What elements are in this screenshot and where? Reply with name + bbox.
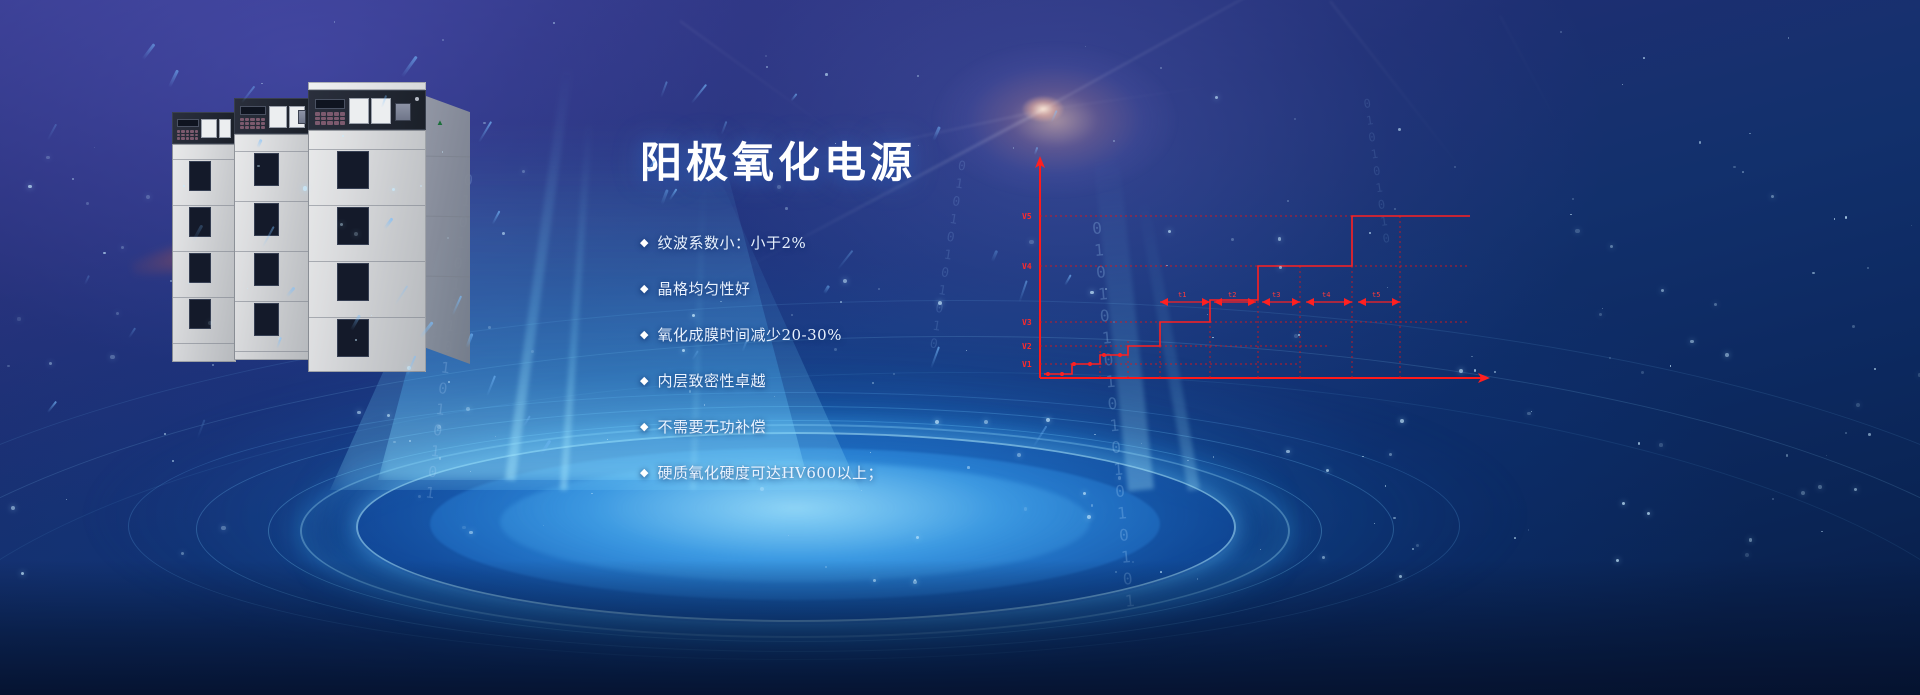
particle-dot (1393, 517, 1396, 520)
particle-dot (1801, 491, 1805, 495)
particle-dot (1362, 456, 1363, 457)
particle-streak (47, 124, 57, 141)
cabinet-vent (189, 299, 211, 329)
waveform-point (1118, 353, 1122, 357)
particle-dot (1690, 340, 1694, 344)
cabinet-display-screen (177, 119, 199, 127)
particle-dot (357, 411, 361, 415)
particle-dot (1868, 433, 1871, 436)
cabinet-body (308, 130, 426, 372)
particle-dot (1622, 84, 1623, 85)
particle-dot (1867, 267, 1869, 269)
particle-dot (17, 317, 20, 320)
particle-dot (1385, 485, 1386, 486)
light-beam (505, 63, 573, 480)
particle-dot (387, 414, 390, 417)
cabinet-body (234, 134, 310, 360)
list-item-label: 晶格均匀性好 (657, 282, 750, 297)
particle-dot (1854, 488, 1857, 491)
cabinet-indicator-light (415, 97, 419, 101)
particle-dot (1294, 118, 1297, 121)
particle-dot (1749, 538, 1753, 542)
particle-dot (1570, 214, 1571, 215)
particle-dot (110, 355, 114, 359)
waveform-point (1102, 353, 1106, 357)
particle-dot (1826, 455, 1827, 456)
particle-dot (502, 232, 505, 235)
particle-dot (21, 572, 24, 575)
particle-dot (46, 156, 49, 159)
particle-dot (1599, 313, 1602, 316)
dimension-group-t5: t5 (1358, 291, 1400, 306)
particle-dot (1260, 549, 1261, 550)
particle-dot (1531, 411, 1533, 413)
particle-dot (1602, 308, 1603, 309)
waveform-point (1060, 372, 1064, 376)
cabinet-seam (235, 151, 309, 152)
dimension-label-t5: t5 (1372, 291, 1380, 299)
cabinet-seam (173, 343, 235, 344)
diamond-bullet-icon: ◆ (640, 466, 648, 481)
dimension-group-t4: t4 (1306, 291, 1352, 306)
particle-dot (1141, 443, 1142, 444)
diamond-bullet-icon: ◆ (640, 328, 648, 343)
particle-dot (1661, 289, 1665, 293)
diamond-bullet-icon: ◆ (640, 282, 648, 297)
particle-dot (66, 499, 67, 500)
particle-dot (1638, 442, 1640, 444)
level-label-v5: V5 (1022, 212, 1032, 221)
particle-streak (486, 375, 496, 396)
particle-dot (1742, 171, 1744, 173)
waveform-point (1072, 362, 1076, 366)
particle-dot (1659, 443, 1663, 447)
particle-dot (1197, 578, 1199, 580)
cabinet-middle (234, 98, 310, 360)
cabinet-control-head (308, 90, 426, 130)
diamond-bullet-icon: ◆ (640, 236, 648, 251)
particle-dot (1699, 141, 1702, 144)
particle-dot (1643, 57, 1645, 59)
cabinet-seam (309, 317, 425, 318)
particle-dot (495, 436, 496, 437)
cabinet-keypad (315, 112, 345, 125)
particle-dot (1528, 529, 1529, 530)
particle-dot (1572, 198, 1574, 200)
cabinet-front (308, 82, 426, 372)
banner-stage: 0101010101010101 010101010101010101 0101… (0, 0, 1920, 695)
particle-dot (1641, 371, 1644, 374)
particle-dot (1771, 195, 1774, 198)
particle-dot (766, 66, 768, 68)
particle-dot (1187, 460, 1189, 462)
cabinet-seam (173, 205, 235, 206)
particle-dot (334, 21, 336, 23)
particle-dot (1821, 531, 1823, 533)
particle-streak (721, 121, 728, 135)
cabinet-seam (235, 201, 309, 202)
cabinet-vent (189, 207, 211, 237)
dimension-label-t4: t4 (1322, 291, 1330, 299)
particle-dot (442, 39, 444, 41)
particle-streak (660, 82, 668, 98)
cabinet-seam (235, 251, 309, 252)
particle-dot (1610, 245, 1613, 248)
particle-streak (197, 419, 206, 438)
particle-dot (1911, 225, 1912, 226)
cabinet-vent (254, 153, 279, 186)
cabinet-seam (426, 156, 470, 158)
stepped-waveform (1044, 216, 1470, 374)
particle-dot (466, 407, 470, 411)
particle-dot (103, 252, 105, 254)
particle-dot (437, 425, 441, 429)
cabinet-top-cap (308, 82, 426, 90)
particle-streak (1050, 110, 1058, 123)
equipment-group: ▲ (168, 82, 488, 372)
particle-dot (1852, 325, 1855, 328)
cabinet-seam (426, 276, 470, 278)
particle-dot (393, 441, 396, 444)
particle-dot (1326, 469, 1329, 472)
particle-dot (1749, 133, 1751, 135)
particle-dot (1845, 216, 1848, 219)
particle-streak (141, 43, 155, 60)
particle-dot (1818, 485, 1822, 489)
cabinet-placard (269, 106, 287, 128)
particle-streak (491, 211, 500, 225)
cabinet-seam (309, 149, 425, 150)
particle-dot (1733, 166, 1735, 168)
particle-dot (1085, 46, 1086, 47)
particle-dot (1399, 575, 1402, 578)
list-item-label: 纹波系数小：小于2% (657, 236, 806, 251)
cabinet-vent (337, 207, 369, 245)
cabinet-seam (309, 205, 425, 206)
particle-dot (1874, 368, 1877, 371)
dimension-group-t2: t2 (1214, 291, 1256, 306)
particle-streak (128, 328, 136, 339)
particle-dot (825, 73, 828, 76)
particle-dot (1400, 419, 1404, 423)
particle-dot (172, 460, 174, 462)
particle-dot (553, 22, 555, 24)
particle-streak (401, 55, 417, 76)
particle-streak (791, 93, 798, 101)
particle-dot (488, 326, 491, 329)
particle-dot (1575, 229, 1579, 233)
dimension-label-t1: t1 (1178, 291, 1186, 299)
particle-dot (1560, 31, 1562, 33)
particle-dot (1622, 502, 1625, 505)
cabinet-keypad (240, 118, 265, 129)
particle-dot (181, 552, 184, 555)
cabinet-placard (219, 119, 231, 138)
list-item-label: 氧化成膜时间减少20-30% (657, 328, 842, 343)
cabinet-side-panel: ▲ (426, 96, 470, 364)
particle-dot (72, 178, 75, 181)
particle-dot (917, 75, 919, 77)
particle-dot (164, 433, 166, 435)
light-beam (560, 121, 593, 491)
cabinet-vent (189, 161, 211, 191)
particle-dot (94, 147, 96, 149)
dimension-group-t1: t1 (1160, 291, 1210, 306)
particle-dot (1514, 537, 1516, 539)
particle-dot (1788, 37, 1789, 38)
particle-dot (1215, 96, 1218, 99)
waveform-point (1046, 372, 1050, 376)
particle-dot (1786, 454, 1788, 456)
particle-dot (1616, 559, 1619, 562)
cabinet-placard (201, 119, 217, 138)
list-item: ◆ 不需要无功补偿 (640, 420, 1100, 435)
particle-dot (1412, 548, 1414, 550)
cabinet-vent (254, 303, 279, 336)
particle-dot (1160, 67, 1162, 69)
cabinet-keypad (177, 130, 198, 140)
particle-dot (1322, 556, 1325, 559)
particle-dot (409, 440, 411, 442)
particle-dot (448, 381, 450, 383)
dimension-label-t3: t3 (1272, 291, 1280, 299)
particle-dot (765, 55, 767, 57)
cabinet-seam (235, 301, 309, 302)
cabinet-seam (173, 297, 235, 298)
particle-streak (523, 415, 530, 426)
particle-dot (607, 439, 608, 440)
voltage-waveform-diagram: V5 V4 V3 V2 V1 (1000, 150, 1520, 400)
particle-dot (1714, 303, 1717, 306)
particle-dot (1389, 453, 1392, 456)
particle-dot (1834, 218, 1836, 220)
cabinet-placard (371, 98, 391, 124)
particle-dot (116, 312, 120, 316)
particle-dot (1527, 412, 1531, 416)
cabinet-seam (309, 261, 425, 262)
lens-flare-core (1022, 96, 1064, 122)
level-label-v1: V1 (1022, 360, 1032, 369)
list-item-label: 不需要无功补偿 (657, 420, 766, 435)
particle-dot (1670, 365, 1672, 367)
cabinet-display-screen (315, 99, 345, 109)
particle-dot (221, 526, 225, 530)
list-item-label: 内层致密性卓越 (657, 374, 766, 389)
cabinet-vent (337, 263, 369, 301)
particle-dot (1772, 498, 1774, 500)
particle-streak (84, 275, 90, 284)
particle-dot (49, 362, 52, 365)
cabinet-vent (254, 253, 279, 286)
cabinet-vent (337, 151, 369, 189)
waveform-svg: V5 V4 V3 V2 V1 (1000, 150, 1520, 400)
cabinet-logo-icon: ▲ (436, 118, 445, 127)
cabinet-seam (173, 251, 235, 252)
particle-dot (439, 457, 442, 460)
cabinet-vent (254, 203, 279, 236)
cabinet-rear (172, 112, 236, 362)
diamond-bullet-icon: ◆ (640, 374, 648, 389)
particle-dot (1845, 432, 1847, 434)
dimension-group-t3: t3 (1262, 291, 1300, 306)
particle-dot (531, 350, 534, 353)
cabinet-vent (189, 253, 211, 283)
particle-dot (121, 246, 124, 249)
list-item-label: 硬质氧化硬度可达HV600以上； (657, 466, 883, 481)
particle-dot (1113, 140, 1115, 142)
particle-dot (1609, 357, 1611, 359)
light-ray (1040, 0, 1531, 112)
particle-dot (1647, 512, 1651, 516)
particle-dot (1745, 553, 1749, 557)
level-label-v4: V4 (1022, 262, 1032, 271)
cabinet-vent (337, 319, 369, 357)
cabinet-seam (426, 216, 470, 218)
particle-dot (86, 202, 89, 205)
particle-dot (7, 365, 10, 368)
dimension-label-t2: t2 (1228, 291, 1236, 299)
cabinet-seam (173, 159, 235, 160)
level-label-v2: V2 (1022, 342, 1032, 351)
cabinet-display-screen (240, 106, 266, 115)
waveform-point (1088, 362, 1092, 366)
particle-dot (1286, 450, 1290, 454)
particle-dot (1725, 353, 1729, 357)
diamond-bullet-icon: ◆ (640, 420, 648, 435)
particle-dot (1398, 128, 1401, 131)
particle-dot (11, 506, 15, 510)
particle-dot (1416, 544, 1420, 548)
particle-dot (1213, 456, 1215, 458)
cabinet-meter (395, 103, 411, 121)
particle-streak (691, 84, 707, 104)
particle-dot (1856, 403, 1860, 407)
particle-streak (47, 400, 57, 412)
particle-dot (522, 170, 525, 173)
particle-dot (146, 195, 150, 199)
cabinet-control-head (234, 98, 310, 134)
particle-dot (28, 185, 32, 189)
particle-dot (1812, 272, 1815, 275)
cabinet-control-head (172, 112, 236, 144)
cabinet-meter (298, 110, 306, 124)
level-label-v3: V3 (1022, 318, 1032, 327)
cabinet-body (172, 144, 236, 362)
cabinet-placard (349, 98, 369, 124)
light-ray (1040, 75, 1288, 111)
cabinet-seam (235, 351, 309, 352)
particle-dot (1374, 523, 1375, 524)
list-item: ◆ 硬质氧化硬度可达HV600以上； (640, 466, 1100, 481)
